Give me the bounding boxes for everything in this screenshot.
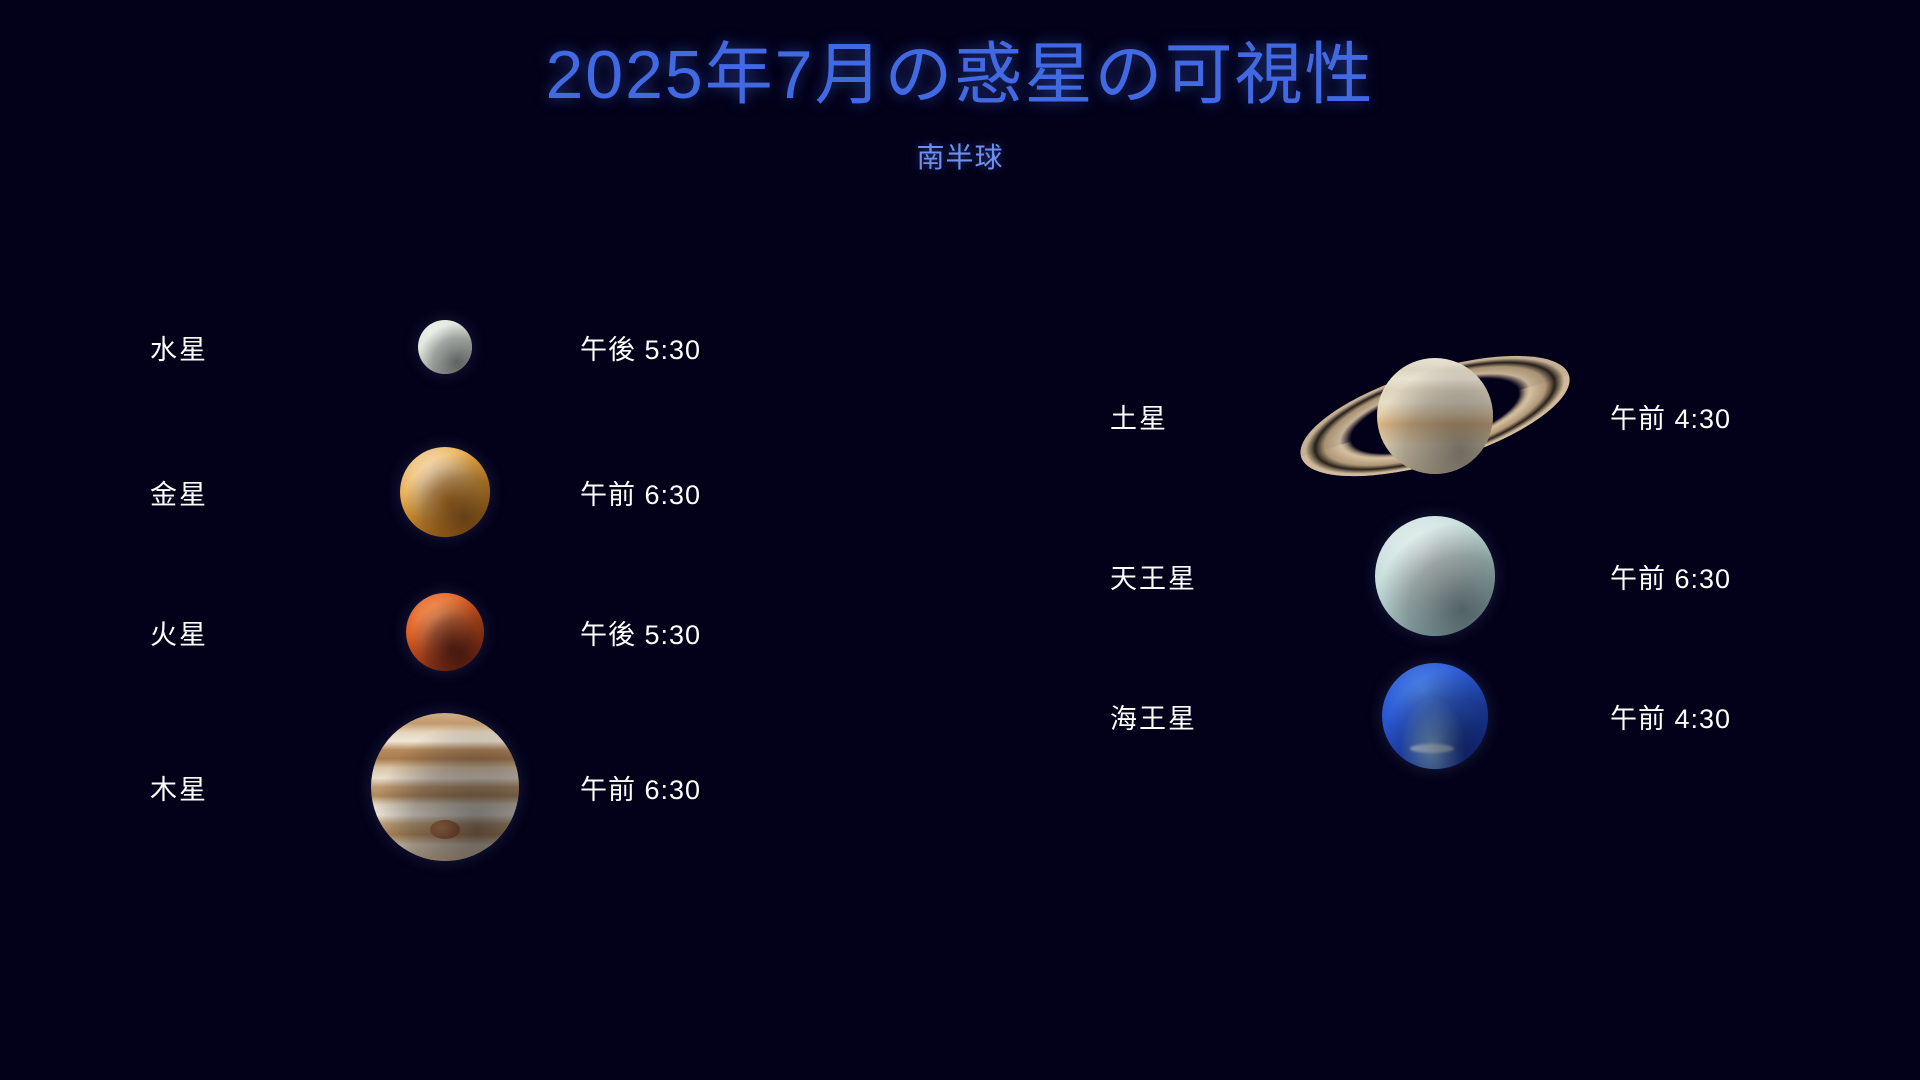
saturn-body — [1377, 358, 1493, 474]
planet-time-venus: 午前 6:30 — [570, 473, 830, 512]
planet-row-mercury[interactable]: 水星 午後 5:30 — [120, 272, 840, 422]
neptune-planet-icon — [1382, 663, 1488, 769]
mercury-planet-icon — [418, 320, 472, 374]
planet-time-mars: 午後 5:30 — [570, 613, 830, 652]
planet-art-mars — [320, 593, 570, 671]
planet-art-venus — [320, 447, 570, 537]
planet-row-saturn[interactable]: 土星 午前 4:30 — [1060, 326, 1820, 506]
planet-column-left: 水星 午後 5:30 金星 午前 6:30 火星 午後 5:30 木星 — [120, 272, 840, 872]
neptune-cloud-streak — [1410, 744, 1454, 753]
planet-label-mars: 火星 — [120, 613, 320, 652]
planet-time-uranus: 午前 6:30 — [1590, 557, 1820, 596]
saturn-planet-icon — [1290, 321, 1580, 511]
planet-column-right: 土星 午前 4:30 天王星 午前 6:30 海王星 — [1060, 326, 1820, 786]
planet-label-uranus: 天王星 — [1060, 557, 1280, 596]
venus-planet-icon — [400, 447, 490, 537]
uranus-planet-icon — [1375, 516, 1495, 636]
planet-label-mercury: 水星 — [120, 328, 320, 367]
planet-art-neptune — [1280, 663, 1590, 769]
planet-label-saturn: 土星 — [1060, 397, 1280, 436]
planet-row-neptune[interactable]: 海王星 午前 4:30 — [1060, 646, 1820, 786]
planet-visibility-board: 水星 午後 5:30 金星 午前 6:30 火星 午後 5:30 木星 — [0, 36, 1920, 1080]
planet-time-saturn: 午前 4:30 — [1590, 397, 1820, 436]
planet-label-venus: 金星 — [120, 473, 320, 512]
planet-row-mars[interactable]: 火星 午後 5:30 — [120, 562, 840, 702]
planet-art-saturn — [1280, 321, 1590, 511]
mars-planet-icon — [406, 593, 484, 671]
jupiter-planet-icon — [371, 713, 519, 861]
planet-art-jupiter — [320, 713, 570, 861]
planet-time-neptune: 午前 4:30 — [1590, 697, 1820, 736]
planet-label-neptune: 海王星 — [1060, 697, 1280, 736]
planet-row-uranus[interactable]: 天王星 午前 6:30 — [1060, 506, 1820, 646]
planet-art-mercury — [320, 320, 570, 374]
planet-time-jupiter: 午前 6:30 — [570, 768, 830, 807]
planet-row-venus[interactable]: 金星 午前 6:30 — [120, 422, 840, 562]
planet-art-uranus — [1280, 516, 1590, 636]
planet-label-jupiter: 木星 — [120, 768, 320, 807]
planet-row-jupiter[interactable]: 木星 午前 6:30 — [120, 702, 840, 872]
planet-time-mercury: 午後 5:30 — [570, 328, 830, 367]
jupiter-great-red-spot — [430, 820, 460, 839]
